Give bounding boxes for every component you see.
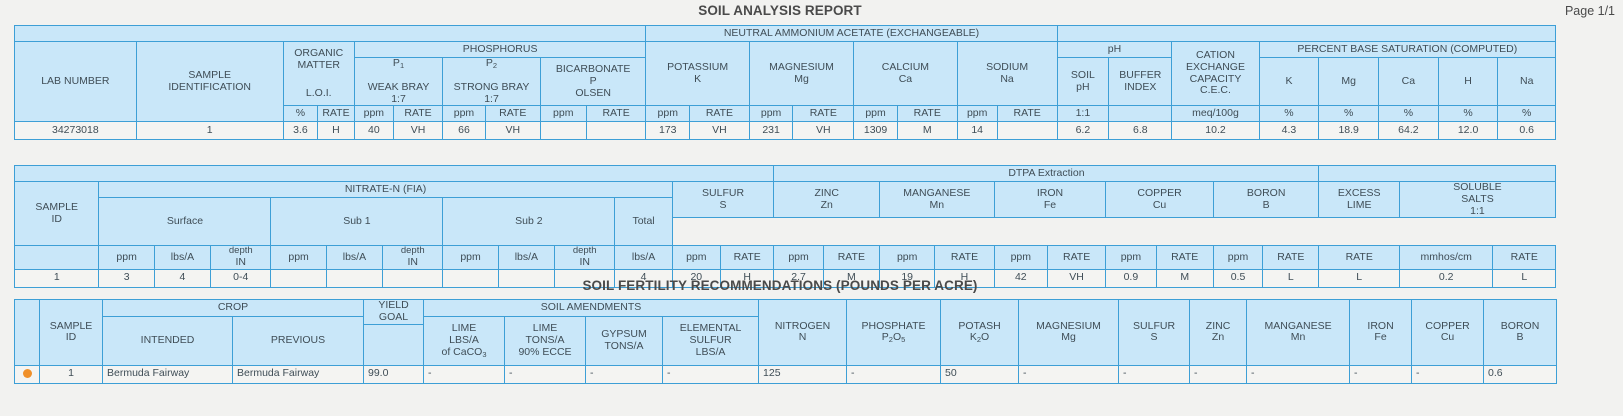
cell-mg-rate: VH xyxy=(793,122,854,140)
header-bs-mg: Mg xyxy=(1319,58,1379,106)
header-copper: COPPER Cu xyxy=(1412,300,1484,366)
cell-ca-rate: M xyxy=(897,122,957,140)
cell-bs-h: 12.0 xyxy=(1438,122,1498,140)
table2-units-row: ppm lbs/A depth IN ppm lbs/A depth IN pp… xyxy=(15,246,1556,269)
header-nitrate-n-fia: NITRATE-N (FIA) xyxy=(99,182,672,198)
cell-na-rate xyxy=(997,122,1057,140)
soil-fertility-recommendations-table: SAMPLE ID CROP YIELD GOAL SOIL AMENDMENT… xyxy=(14,299,1557,384)
header-total: Total xyxy=(615,198,672,246)
unit-cu-ppm: ppm xyxy=(1106,246,1156,269)
cell-nitrogen: 125 xyxy=(759,365,847,383)
unit-cec: meq/100g xyxy=(1172,106,1259,122)
unit-om-pct: % xyxy=(283,106,317,122)
header-calcium: CALCIUM Ca xyxy=(854,42,957,106)
unit-bs-k: % xyxy=(1259,106,1319,122)
unit-sub1-ppm: ppm xyxy=(271,246,326,269)
cell-p2-ppm: 66 xyxy=(443,122,485,140)
cell-bicarb-ppm xyxy=(540,122,586,140)
unit-p1-rate: RATE xyxy=(393,106,442,122)
header-lime-lbs: LIME LBS/A of CaCO3 xyxy=(424,317,505,366)
header-bs-h: H xyxy=(1438,58,1498,106)
header-crop-intended: INTENDED xyxy=(103,317,233,366)
unit-surf-lbs: lbs/A xyxy=(154,246,210,269)
header-elemental-sulfur: ELEMENTAL SULFUR LBS/A xyxy=(663,317,759,366)
cell-mg-ppm: 231 xyxy=(749,122,793,140)
cell-p2-rate: VH xyxy=(485,122,540,140)
cell-sample-id: 1 xyxy=(40,365,103,383)
page-title-soil-fertility: SOIL FERTILITY RECOMMENDATIONS (POUNDS P… xyxy=(0,278,1560,293)
header-soluble-salts: SOLUBLE SALTS 1:1 xyxy=(1399,182,1555,218)
header-sub2: Sub 2 xyxy=(443,198,615,246)
unit-bs-mg: % xyxy=(1319,106,1379,122)
cell-bs-na: 0.6 xyxy=(1498,122,1556,140)
cell-iron: - xyxy=(1350,365,1412,383)
table2-spanner-row: DTPA Extraction xyxy=(15,166,1556,182)
cell-bs-k: 4.3 xyxy=(1259,122,1319,140)
header-cec: CATION EXCHANGE CAPACITY C.E.C. xyxy=(1172,42,1259,106)
header-manganese: MANGANESE Mn xyxy=(1247,300,1350,366)
cell-lime-tons: - xyxy=(505,365,586,383)
unit-mn-rate: RATE xyxy=(935,246,994,269)
header-soil-ph: SOIL pH xyxy=(1057,58,1109,106)
unit-fe-ppm: ppm xyxy=(994,246,1047,269)
header-iron: IRON Fe xyxy=(994,182,1106,218)
header-sodium: SODIUM Na xyxy=(957,42,1057,106)
header-lab-number: LAB NUMBER xyxy=(15,42,137,122)
header-surface: Surface xyxy=(99,198,271,246)
header-sulfur: SULFUR S xyxy=(1119,300,1190,366)
cell-k-rate: VH xyxy=(690,122,750,140)
header-potassium: POTASSIUM K xyxy=(646,42,749,106)
header-p2: P2 STRONG BRAY 1:7 xyxy=(443,58,541,106)
header-bs-na: Na xyxy=(1498,58,1556,106)
table-row[interactable]: 34273018 1 3.6 H 40 VH 66 VH 173 VH 231 … xyxy=(15,122,1556,140)
header-zinc: ZINC Zn xyxy=(1190,300,1247,366)
cell-p1-ppm: 40 xyxy=(354,122,393,140)
header-magnesium: MAGNESIUM Mg xyxy=(1019,300,1119,366)
table3-group-header-row: SAMPLE ID CROP YIELD GOAL SOIL AMENDMENT… xyxy=(15,300,1557,317)
cell-potash: 50 xyxy=(941,365,1019,383)
unit-soluble-salts-rate: RATE xyxy=(1493,246,1556,269)
unit-cu-rate: RATE xyxy=(1156,246,1213,269)
cell-cec: 10.2 xyxy=(1172,122,1259,140)
header-magnesium: MAGNESIUM Mg xyxy=(749,42,853,106)
unit-sub2-lbs: lbs/A xyxy=(498,246,554,269)
spacer-cell xyxy=(1057,26,1555,42)
cell-copper: - xyxy=(1412,365,1484,383)
header-excess-lime: EXCESS LIME xyxy=(1319,182,1399,218)
unit-bicarb-rate: RATE xyxy=(586,106,646,122)
cell-yield-goal: 99.0 xyxy=(364,365,424,383)
unit-fe-rate: RATE xyxy=(1047,246,1105,269)
header-phosphorus: PHOSPHORUS xyxy=(354,42,646,58)
header-p1: P1 WEAK BRAY 1:7 xyxy=(354,58,442,106)
unit-sample-id xyxy=(15,246,99,269)
unit-sub1-depth: depth IN xyxy=(383,246,443,269)
cell-na-ppm: 14 xyxy=(957,122,997,140)
unit-om-rate: RATE xyxy=(318,106,355,122)
header-sulfur: SULFUR S xyxy=(672,182,774,218)
unit-p1-ppm: ppm xyxy=(354,106,393,122)
spacer-cell xyxy=(15,166,774,182)
neutral-ammonium-acetate-spanner: NEUTRAL AMMONIUM ACETATE (EXCHANGEABLE) xyxy=(646,26,1057,42)
unit-k-ppm: ppm xyxy=(646,106,690,122)
cell-bs-ca: 64.2 xyxy=(1379,122,1439,140)
unit-b-rate: RATE xyxy=(1263,246,1319,269)
unit-soluble-salts: mmhos/cm xyxy=(1399,246,1493,269)
table1-group-header-row: LAB NUMBER SAMPLE IDENTIFICATION ORGANIC… xyxy=(15,42,1556,58)
cell-p1-rate: VH xyxy=(393,122,442,140)
unit-b-ppm: ppm xyxy=(1213,246,1262,269)
unit-zn-ppm: ppm xyxy=(774,246,823,269)
page-title-soil-analysis: SOIL ANALYSIS REPORT xyxy=(0,3,1560,18)
table2-group-header-row: SAMPLE ID NITRATE-N (FIA) SULFUR S ZINC … xyxy=(15,182,1556,198)
cell-buffer-index: 6.8 xyxy=(1109,122,1172,140)
table-row[interactable]: 1 Bermuda Fairway Bermuda Fairway 99.0 -… xyxy=(15,365,1557,383)
header-zinc: ZINC Zn xyxy=(774,182,880,218)
cell-phosphate: - xyxy=(847,365,941,383)
header-crop: CROP xyxy=(103,300,364,317)
header-yield-goal: YIELD GOAL xyxy=(364,300,424,325)
unit-na-ppm: ppm xyxy=(957,106,997,122)
spacer-cell xyxy=(1319,166,1556,182)
cell-k-ppm: 173 xyxy=(646,122,690,140)
spacer-cell xyxy=(15,26,646,42)
unit-p2-rate: RATE xyxy=(485,106,540,122)
unit-surf-depth: depth IN xyxy=(211,246,271,269)
header-manganese: MANGANESE Mn xyxy=(880,182,995,218)
cell-crop-intended: Bermuda Fairway xyxy=(103,365,233,383)
header-copper: COPPER Cu xyxy=(1106,182,1214,218)
header-soil-amendments: SOIL AMENDMENTS xyxy=(424,300,759,317)
cell-lab-number: 34273018 xyxy=(15,122,137,140)
cell-bicarb-rate xyxy=(586,122,646,140)
unit-zn-rate: RATE xyxy=(823,246,879,269)
unit-mg-ppm: ppm xyxy=(749,106,793,122)
page-indicator: Page 1/1 xyxy=(1565,4,1615,18)
cell-magnesium: - xyxy=(1019,365,1119,383)
cell-sample-identification: 1 xyxy=(136,122,283,140)
unit-mg-rate: RATE xyxy=(793,106,854,122)
header-bs-ca: Ca xyxy=(1379,58,1439,106)
report-page: SOIL ANALYSIS REPORT Page 1/1 NEUTRAL AM… xyxy=(0,0,1623,416)
unit-s-ppm: ppm xyxy=(672,246,720,269)
nitrate-dtpa-table: DTPA Extraction SAMPLE ID NITRATE-N (FIA… xyxy=(14,165,1556,288)
unit-sub2-ppm: ppm xyxy=(443,246,498,269)
unit-ca-rate: RATE xyxy=(897,106,957,122)
header-boron: BORON B xyxy=(1484,300,1557,366)
row-marker-cell[interactable] xyxy=(15,365,40,383)
header-sample-identification: SAMPLE IDENTIFICATION xyxy=(136,42,283,122)
unit-surf-ppm: ppm xyxy=(99,246,154,269)
cell-bs-mg: 18.9 xyxy=(1319,122,1379,140)
unit-bs-ca: % xyxy=(1379,106,1439,122)
unit-total-lbs: lbs/A xyxy=(615,246,672,269)
orange-dot-icon xyxy=(23,369,32,378)
dtpa-extraction-spanner: DTPA Extraction xyxy=(774,166,1319,182)
unit-bs-na: % xyxy=(1498,106,1556,122)
unit-s-rate: RATE xyxy=(720,246,773,269)
header-yield-goal-filler xyxy=(364,324,424,365)
unit-ca-ppm: ppm xyxy=(854,106,898,122)
unit-buffer-index xyxy=(1109,106,1172,122)
table1-spanner-row: NEUTRAL AMMONIUM ACETATE (EXCHANGEABLE) xyxy=(15,26,1556,42)
cell-sulfur: - xyxy=(1119,365,1190,383)
unit-sub1-lbs: lbs/A xyxy=(326,246,382,269)
cell-lime-lbs: - xyxy=(424,365,505,383)
cell-crop-previous: Bermuda Fairway xyxy=(233,365,364,383)
header-percent-base-saturation: PERCENT BASE SATURATION (COMPUTED) xyxy=(1259,42,1555,58)
header-buffer-index: BUFFER INDEX xyxy=(1109,58,1172,106)
unit-p2-ppm: ppm xyxy=(443,106,485,122)
header-organic-matter: ORGANIC MATTER L.O.I. xyxy=(283,42,354,106)
header-bs-k: K xyxy=(1259,58,1319,106)
cell-boron: 0.6 xyxy=(1484,365,1557,383)
unit-bicarb-ppm: ppm xyxy=(540,106,586,122)
header-ph: pH xyxy=(1057,42,1172,58)
header-boron: BORON B xyxy=(1213,182,1319,218)
cell-gypsum: - xyxy=(586,365,663,383)
cell-om-rate: H xyxy=(318,122,355,140)
header-sub1: Sub 1 xyxy=(271,198,443,246)
header-marker-column xyxy=(15,300,40,366)
cell-soil-ph: 6.2 xyxy=(1057,122,1109,140)
header-sample-id: SAMPLE ID xyxy=(40,300,103,366)
cell-ca-ppm: 1309 xyxy=(854,122,898,140)
header-iron: IRON Fe xyxy=(1350,300,1412,366)
unit-na-rate: RATE xyxy=(997,106,1057,122)
unit-k-rate: RATE xyxy=(690,106,750,122)
header-sample-id: SAMPLE ID xyxy=(15,182,99,246)
unit-excess-lime-rate: RATE xyxy=(1319,246,1399,269)
header-gypsum: GYPSUM TONS/A xyxy=(586,317,663,366)
unit-bs-h: % xyxy=(1438,106,1498,122)
cell-om-pct: 3.6 xyxy=(283,122,317,140)
header-crop-previous: PREVIOUS xyxy=(233,317,364,366)
header-phosphate: PHOSPHATE P2O5 xyxy=(847,300,941,366)
header-bicarbonate-p-olsen: BICARBONATE P OLSEN xyxy=(540,58,646,106)
soil-analysis-table: NEUTRAL AMMONIUM ACETATE (EXCHANGEABLE) … xyxy=(14,25,1556,140)
unit-sub2-depth: depth IN xyxy=(555,246,615,269)
header-potash: POTASH K2O xyxy=(941,300,1019,366)
cell-elemental-sulfur: - xyxy=(663,365,759,383)
header-nitrogen: NITROGEN N xyxy=(759,300,847,366)
unit-mn-ppm: ppm xyxy=(880,246,935,269)
cell-manganese: - xyxy=(1247,365,1350,383)
unit-soil-ph: 1:1 xyxy=(1057,106,1109,122)
header-lime-tons: LIME TONS/A 90% ECCE xyxy=(505,317,586,366)
cell-zinc: - xyxy=(1190,365,1247,383)
